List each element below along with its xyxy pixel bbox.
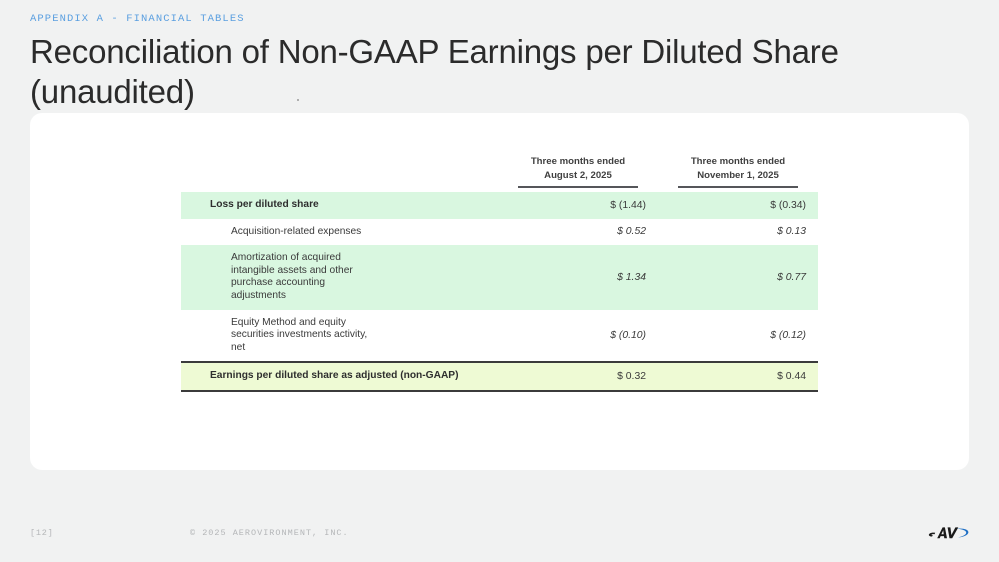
table-row: Equity Method and equity securities inve…: [181, 310, 818, 363]
page-number: [12]: [30, 528, 54, 538]
table-row: Acquisition-related expenses $ 0.52 $ 0.…: [181, 219, 818, 246]
stray-dot-artifact: [297, 99, 299, 101]
row-value-equity-november: $ (0.12): [658, 310, 818, 363]
section-eyebrow: APPENDIX A - FINANCIAL TABLES: [30, 12, 960, 26]
row-label-text: Acquisition-related expenses: [231, 226, 381, 239]
row-value-adjusted-november: $ 0.44: [658, 362, 818, 391]
slide-header: APPENDIX A - FINANCIAL TABLES Reconcilia…: [30, 12, 960, 112]
row-value-equity-august: $ (0.10): [498, 310, 658, 363]
table-row-total: Earnings per diluted share as adjusted (…: [181, 362, 818, 391]
row-label-acquisition-related-expenses: Acquisition-related expenses: [181, 219, 498, 246]
row-value-adjusted-august: $ 0.32: [498, 362, 658, 391]
page-title: Reconciliation of Non-GAAP Earnings per …: [30, 32, 960, 112]
row-label-text: Earnings per diluted share as adjusted (…: [210, 370, 459, 381]
table-header: Three months ended August 2, 2025 Three …: [181, 142, 818, 192]
row-value-loss-november: $ (0.34): [658, 192, 818, 219]
table-row: Amortization of acquired intangible asse…: [181, 245, 818, 309]
row-label-loss-per-diluted-share: Loss per diluted share: [181, 192, 498, 219]
reconciliation-table: Three months ended August 2, 2025 Three …: [181, 142, 818, 392]
row-label-text: Amortization of acquired intangible asse…: [231, 252, 381, 302]
row-label-equity-method-investments: Equity Method and equity securities inve…: [181, 310, 498, 363]
column-header-november-line2: November 1, 2025: [697, 170, 779, 181]
av-logo-icon: [925, 520, 981, 546]
column-header-november-line1: Three months ended: [691, 156, 785, 167]
row-value-acquisition-november: $ 0.13: [658, 219, 818, 246]
aerovironment-logo: [925, 520, 981, 546]
column-header-august-line1: Three months ended: [531, 156, 625, 167]
slide-footer: [12] © 2025 AEROVIRONMENT, INC.: [0, 528, 999, 548]
column-header-august-line2: August 2, 2025: [544, 170, 612, 181]
table-header-blank: [181, 142, 498, 192]
row-value-acquisition-august: $ 0.52: [498, 219, 658, 246]
table-header-row: Three months ended August 2, 2025 Three …: [181, 142, 818, 192]
table-body: Loss per diluted share $ (1.44) $ (0.34)…: [181, 192, 818, 391]
row-label-earnings-per-diluted-share-adjusted: Earnings per diluted share as adjusted (…: [181, 362, 498, 391]
row-label-amortization-of-acquired-intangibles: Amortization of acquired intangible asse…: [181, 245, 498, 309]
column-header-august: Three months ended August 2, 2025: [498, 142, 658, 192]
column-header-november: Three months ended November 1, 2025: [658, 142, 818, 192]
row-value-amortization-november: $ 0.77: [658, 245, 818, 309]
row-label-text: Equity Method and equity securities inve…: [231, 317, 381, 355]
row-value-loss-august: $ (1.44): [498, 192, 658, 219]
copyright-notice: © 2025 AEROVIRONMENT, INC.: [190, 528, 349, 538]
content-card: Three months ended August 2, 2025 Three …: [30, 113, 969, 470]
row-value-amortization-august: $ 1.34: [498, 245, 658, 309]
table-row: Loss per diluted share $ (1.44) $ (0.34): [181, 192, 818, 219]
